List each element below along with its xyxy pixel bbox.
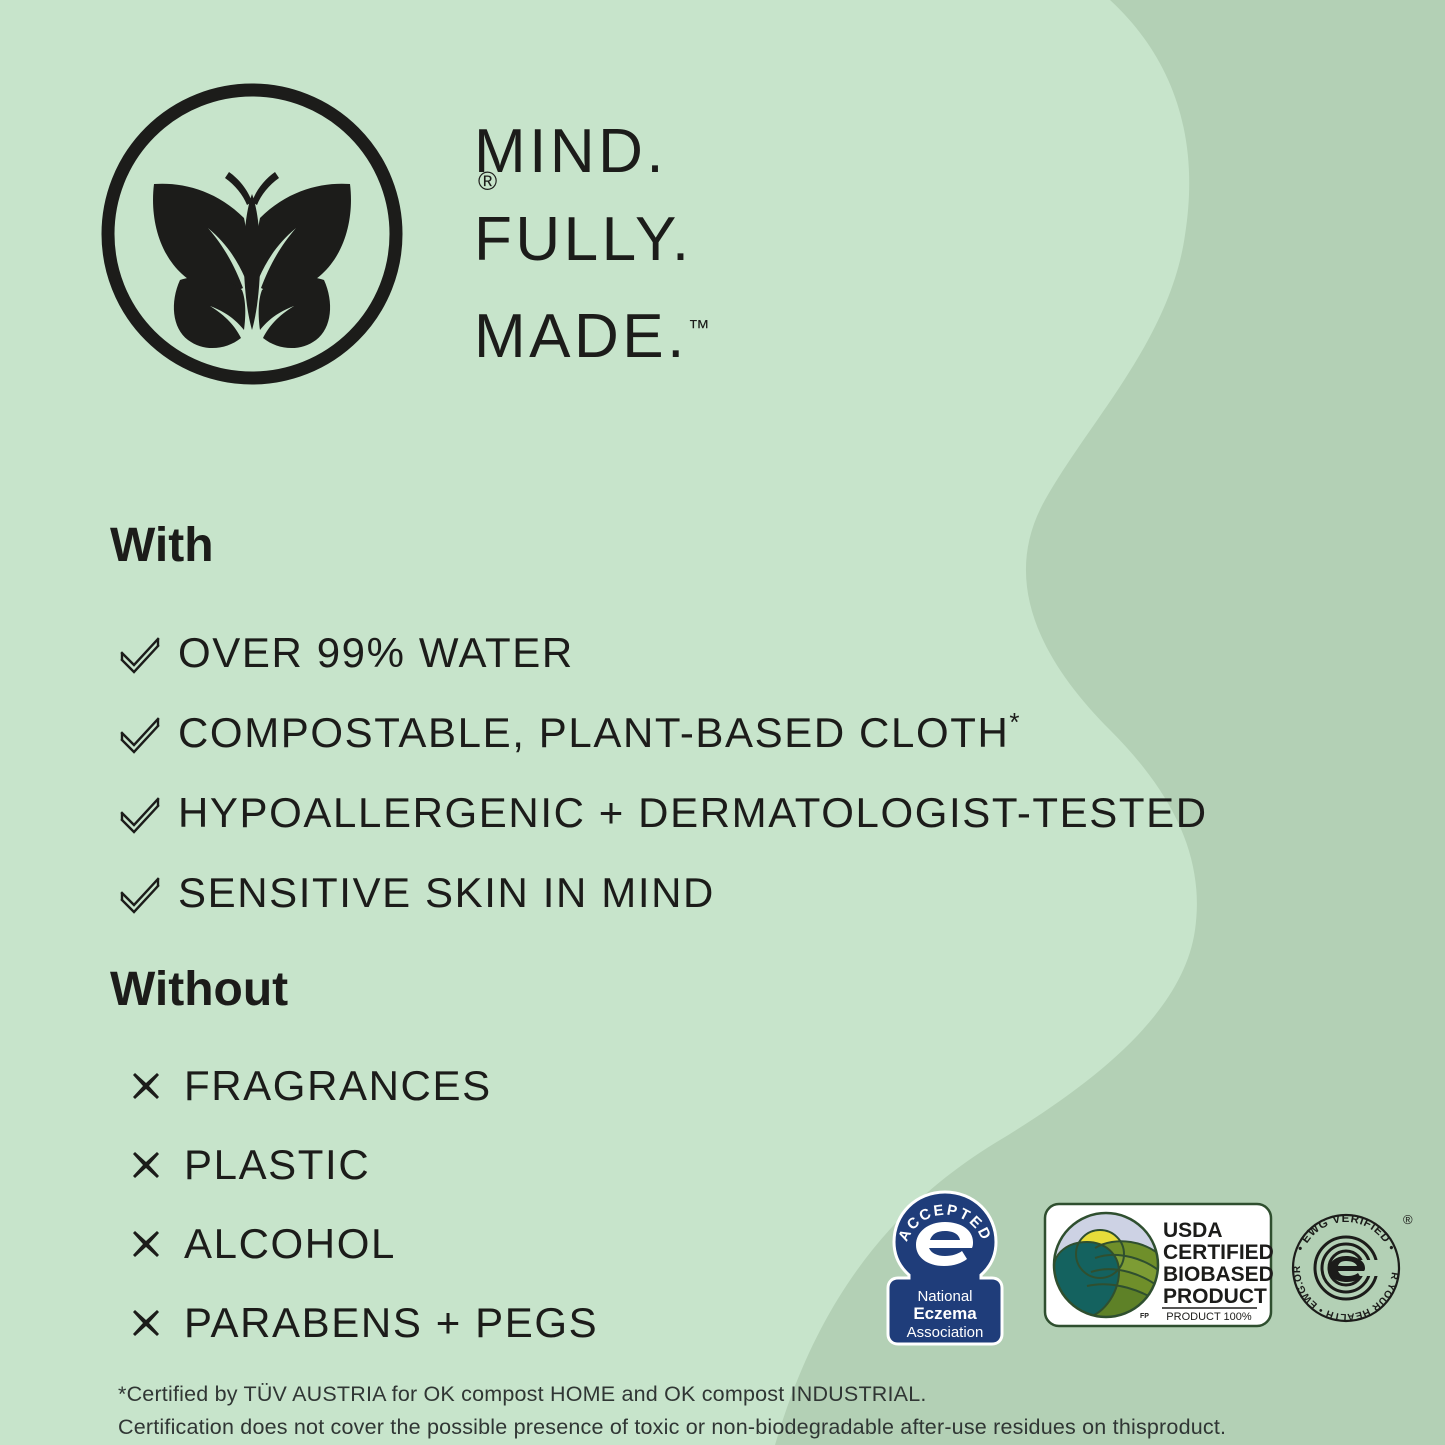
list-item: HYPOALLERGENIC + DERMATOLOGIST-TESTED bbox=[118, 772, 1278, 852]
brand-line-1-text: MIND. bbox=[474, 117, 667, 186]
trademark-symbol: ™ bbox=[688, 315, 710, 340]
check-outline-icon bbox=[118, 790, 162, 834]
usda-line-1: USDA bbox=[1163, 1219, 1223, 1242]
brand-line-1: MIND. bbox=[474, 108, 1094, 196]
ewg-arc-top-text: • EWG VERIFIED • bbox=[1295, 1213, 1398, 1253]
footnote-line-2: Certification does not cover the possibl… bbox=[118, 1411, 1318, 1444]
national-eczema-association-badge: ACCEPTED National Eczema Association bbox=[880, 1188, 1010, 1348]
usda-corner-mark: FP bbox=[1140, 1313, 1149, 1320]
cross-icon bbox=[130, 1149, 162, 1181]
list-item-label: PARABENS + PEGS bbox=[184, 1299, 598, 1347]
list-item: SENSITIVE SKIN IN MIND bbox=[118, 852, 1278, 932]
usda-certified-biobased-product-badge: USDA CERTIFIED BIOBASED PRODUCT PRODUCT … bbox=[1043, 1202, 1273, 1328]
product-claims-infographic: ® MIND. FULLY. MADE.™ With OVER 99% WATE… bbox=[0, 0, 1445, 1445]
list-item-label: COMPOSTABLE, PLANT-BASED CLOTH* bbox=[178, 707, 1021, 757]
with-claims-list: OVER 99% WATER COMPOSTABLE, PLANT-BASED … bbox=[118, 612, 1278, 932]
usda-line-3: BIOBASED bbox=[1163, 1263, 1273, 1286]
brand-line-2: FULLY. bbox=[474, 196, 1094, 284]
list-item: OVER 99% WATER bbox=[118, 612, 1278, 692]
cross-icon bbox=[130, 1307, 162, 1339]
butterfly-in-circle-logo bbox=[96, 78, 408, 390]
without-section-heading: Without bbox=[110, 962, 288, 1017]
brand-line-3: MADE.™ bbox=[474, 284, 1094, 381]
footnote-line-1: *Certified by TÜV AUSTRIA for OK compost… bbox=[118, 1378, 1318, 1411]
list-item-label: OVER 99% WATER bbox=[178, 627, 574, 677]
list-item-label: HYPOALLERGENIC + DERMATOLOGIST-TESTED bbox=[178, 787, 1208, 837]
list-item-text: SENSITIVE SKIN IN MIND bbox=[178, 869, 715, 916]
list-item-label: FRAGRANCES bbox=[184, 1062, 492, 1110]
cross-icon bbox=[130, 1228, 162, 1260]
footnote-marker: * bbox=[1009, 707, 1021, 737]
nea-line-3: Association bbox=[907, 1324, 984, 1341]
footnote-block: *Certified by TÜV AUSTRIA for OK compost… bbox=[118, 1378, 1318, 1444]
list-item: FRAGRANCES bbox=[126, 1046, 1026, 1125]
usda-sub: PRODUCT 100% bbox=[1166, 1311, 1252, 1323]
list-item-label: PLASTIC bbox=[184, 1141, 370, 1189]
certification-badges: ACCEPTED National Eczema Association bbox=[880, 1188, 1425, 1348]
brand-lockup: ® MIND. FULLY. MADE.™ bbox=[96, 78, 1096, 398]
check-outline-icon bbox=[118, 870, 162, 914]
with-section-heading: With bbox=[110, 518, 214, 573]
check-outline-icon bbox=[118, 630, 162, 674]
nea-line-2: Eczema bbox=[913, 1304, 977, 1323]
brand-line-2-text: FULLY. bbox=[474, 205, 693, 274]
ewg-verified-badge: • EWG VERIFIED • • FOR YOUR HEALTH • EWG… bbox=[1280, 1202, 1420, 1332]
usda-line-2: CERTIFIED bbox=[1163, 1241, 1273, 1264]
usda-line-4: PRODUCT bbox=[1163, 1285, 1267, 1308]
list-item-text: COMPOSTABLE, PLANT-BASED CLOTH bbox=[178, 709, 1009, 756]
brand-wordmark: MIND. FULLY. MADE.™ bbox=[474, 108, 1094, 381]
list-item: COMPOSTABLE, PLANT-BASED CLOTH* bbox=[118, 692, 1278, 772]
list-item-label: SENSITIVE SKIN IN MIND bbox=[178, 867, 715, 917]
brand-line-3-text: MADE. bbox=[474, 302, 688, 371]
ewg-registered-symbol: ® bbox=[1403, 1212, 1413, 1227]
nea-line-1: National bbox=[917, 1288, 972, 1305]
list-item-text: OVER 99% WATER bbox=[178, 629, 574, 676]
list-item-label: ALCOHOL bbox=[184, 1220, 396, 1268]
check-outline-icon bbox=[118, 710, 162, 754]
list-item-text: HYPOALLERGENIC + DERMATOLOGIST-TESTED bbox=[178, 789, 1208, 836]
cross-icon bbox=[130, 1070, 162, 1102]
svg-text:• EWG VERIFIED •: • EWG VERIFIED • bbox=[1295, 1213, 1398, 1253]
